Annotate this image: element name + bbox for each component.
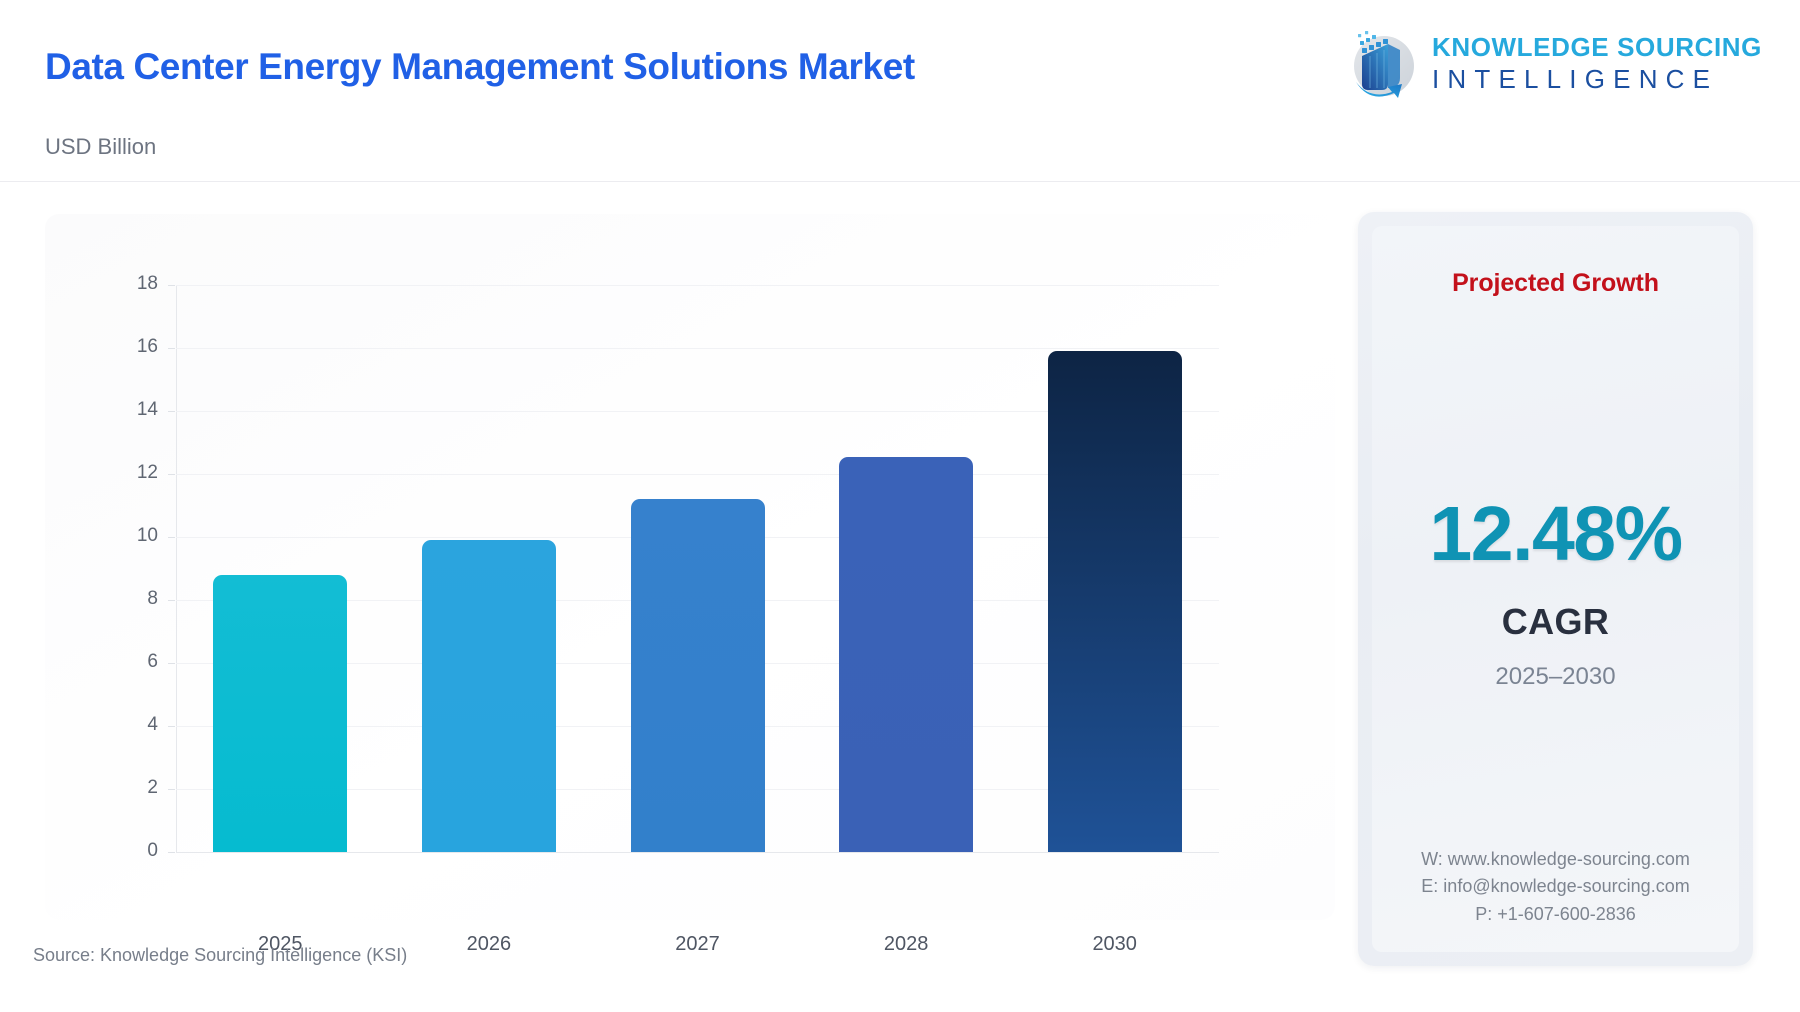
page-header: Data Center Energy Management Solutions … — [0, 0, 1800, 182]
logo-text-line-2: INTELLIGENCE — [1432, 66, 1762, 92]
plot-area: 02468101214161820252026202720282030 — [176, 285, 1219, 852]
bar-2026[interactable] — [422, 540, 556, 852]
y-axis-tick-mark — [168, 852, 175, 853]
x-axis-label-2027: 2027 — [608, 933, 788, 956]
y-axis-tick-label: 4 — [114, 714, 158, 736]
contact-block: W: www.knowledge-sourcing.com E: info@kn… — [1372, 846, 1739, 928]
contact-email[interactable]: E: info@knowledge-sourcing.com — [1372, 873, 1739, 900]
y-axis-tick-label: 12 — [114, 462, 158, 484]
y-axis-tick-label: 8 — [114, 588, 158, 610]
knowledge-sourcing-logo-mark-icon — [1344, 26, 1418, 100]
y-axis-tick-label: 0 — [114, 840, 158, 862]
contact-website[interactable]: W: www.knowledge-sourcing.com — [1372, 846, 1739, 873]
x-axis-label-2028: 2028 — [816, 933, 996, 956]
gridline — [176, 348, 1219, 349]
logo-text-line-1: KNOWLEDGE SOURCING — [1432, 34, 1762, 60]
y-axis-tick-mark — [168, 411, 175, 412]
bar-2025[interactable] — [213, 575, 347, 852]
y-axis-tick-mark — [168, 348, 175, 349]
x-axis-label-2030: 2030 — [1025, 933, 1205, 956]
gridline — [176, 852, 1219, 853]
y-axis-tick-mark — [168, 285, 175, 286]
projected-growth-card: Projected Growth 12.48% CAGR 2025–2030 W… — [1358, 212, 1753, 966]
source-note: Source: Knowledge Sourcing Intelligence … — [33, 945, 407, 966]
bar-2030[interactable] — [1048, 351, 1182, 852]
y-axis-tick-label: 14 — [114, 399, 158, 421]
y-axis-tick-mark — [168, 600, 175, 601]
y-axis-tick-label: 16 — [114, 336, 158, 358]
cagr-label: CAGR — [1372, 601, 1739, 643]
bar-2027[interactable] — [631, 499, 765, 852]
contact-phone[interactable]: P: +1-607-600-2836 — [1372, 901, 1739, 928]
y-axis-tick-label: 10 — [114, 525, 158, 547]
y-axis-tick-label: 18 — [114, 273, 158, 295]
logo-wordmark: KNOWLEDGE SOURCING INTELLIGENCE — [1432, 34, 1762, 92]
y-axis-tick-mark — [168, 474, 175, 475]
page-title: Data Center Energy Management Solutions … — [45, 46, 915, 88]
cagr-period: 2025–2030 — [1372, 663, 1739, 691]
brand-logo: KNOWLEDGE SOURCING INTELLIGENCE — [1344, 26, 1762, 100]
bar-2028[interactable] — [839, 457, 973, 852]
gridline — [176, 285, 1219, 286]
y-axis-tick-mark — [168, 663, 175, 664]
chart-units-subtitle: USD Billion — [45, 134, 156, 160]
projected-growth-card-inner: Projected Growth 12.48% CAGR 2025–2030 W… — [1372, 226, 1739, 952]
y-axis-tick-mark — [168, 726, 175, 727]
y-axis-tick-label: 6 — [114, 651, 158, 673]
chart-panel: 02468101214161820252026202720282030 — [45, 214, 1335, 920]
y-axis-tick-mark — [168, 789, 175, 790]
y-axis-tick-mark — [168, 537, 175, 538]
cagr-value: 12.48% — [1372, 490, 1739, 579]
projected-growth-heading: Projected Growth — [1372, 269, 1739, 298]
x-axis-label-2026: 2026 — [399, 933, 579, 956]
y-axis-tick-label: 2 — [114, 777, 158, 799]
